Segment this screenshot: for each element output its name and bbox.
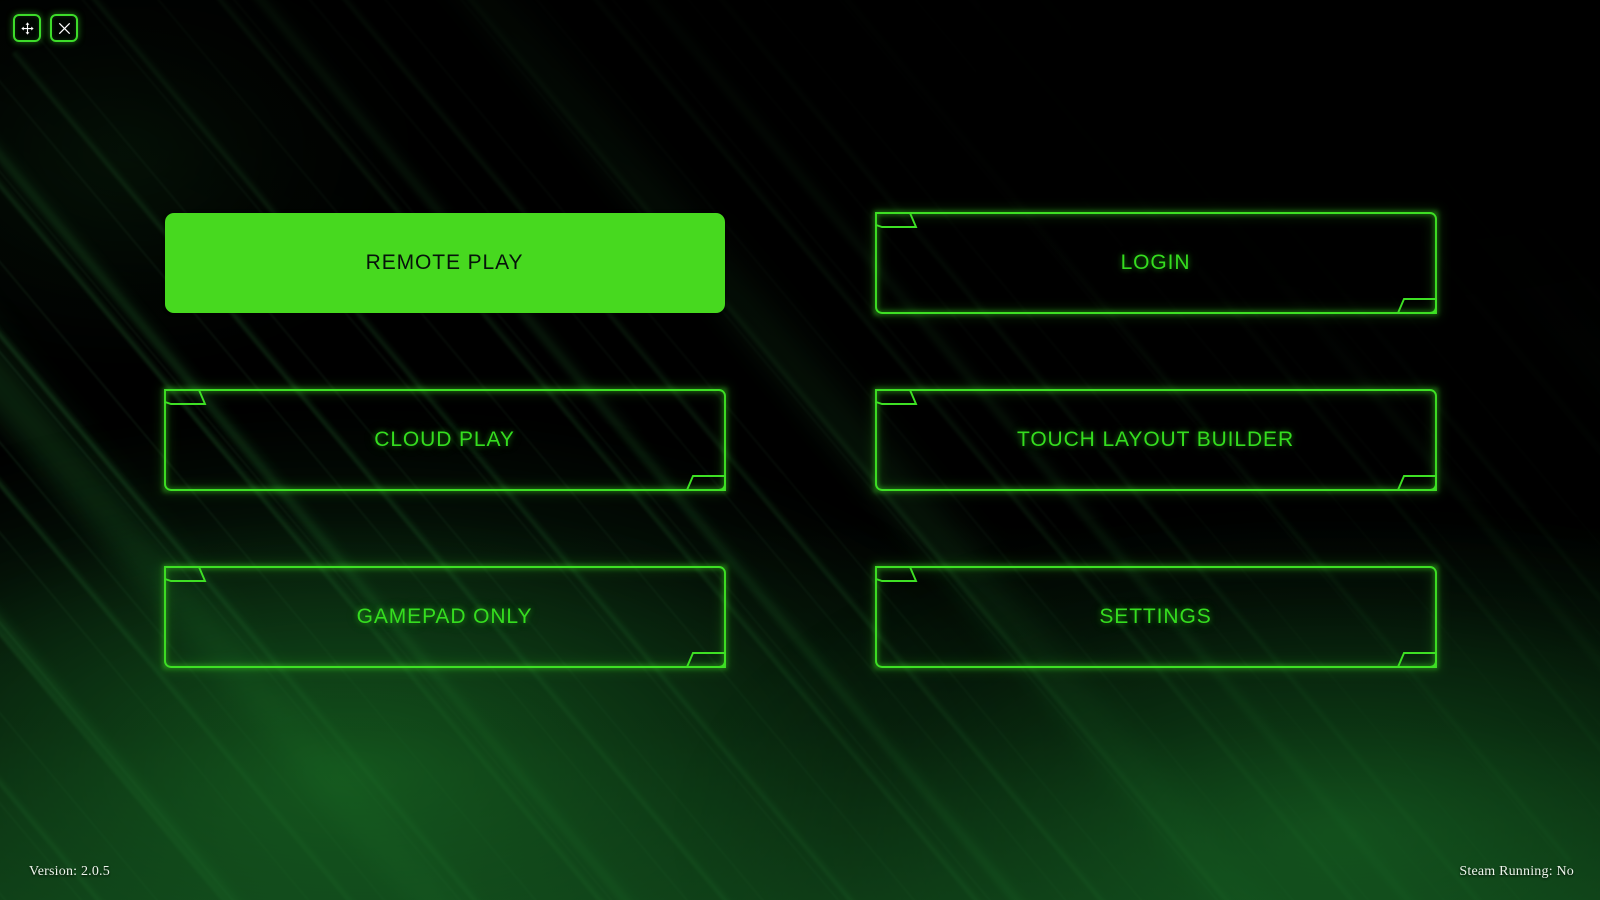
remote-play-button[interactable]: REMOTE PLAY xyxy=(165,213,725,313)
move-window-button[interactable] xyxy=(13,14,41,42)
close-x-icon xyxy=(57,21,72,36)
gamepad-only-label: GAMEPAD ONLY xyxy=(165,567,725,667)
gamepad-only-button[interactable]: GAMEPAD ONLY xyxy=(165,567,725,667)
cloud-play-label: CLOUD PLAY xyxy=(165,390,725,490)
version-label: Version: 2.0.5 xyxy=(29,864,110,880)
login-button[interactable]: LOGIN xyxy=(876,213,1436,313)
move-arrows-icon xyxy=(20,21,35,36)
touch-layout-builder-label: TOUCH LAYOUT BUILDER xyxy=(876,390,1436,490)
login-label: LOGIN xyxy=(876,213,1436,313)
cloud-play-button[interactable]: CLOUD PLAY xyxy=(165,390,725,490)
settings-label: SETTINGS xyxy=(876,567,1436,667)
steam-running-status: Steam Running: No xyxy=(1459,864,1574,880)
main-menu-grid: REMOTE PLAY LOGIN CLOUD PLAY xyxy=(0,213,1600,667)
remote-play-label: REMOTE PLAY xyxy=(366,251,524,275)
close-window-button[interactable] xyxy=(50,14,78,42)
touch-layout-builder-button[interactable]: TOUCH LAYOUT BUILDER xyxy=(876,390,1436,490)
settings-button[interactable]: SETTINGS xyxy=(876,567,1436,667)
window-controls xyxy=(13,14,78,42)
